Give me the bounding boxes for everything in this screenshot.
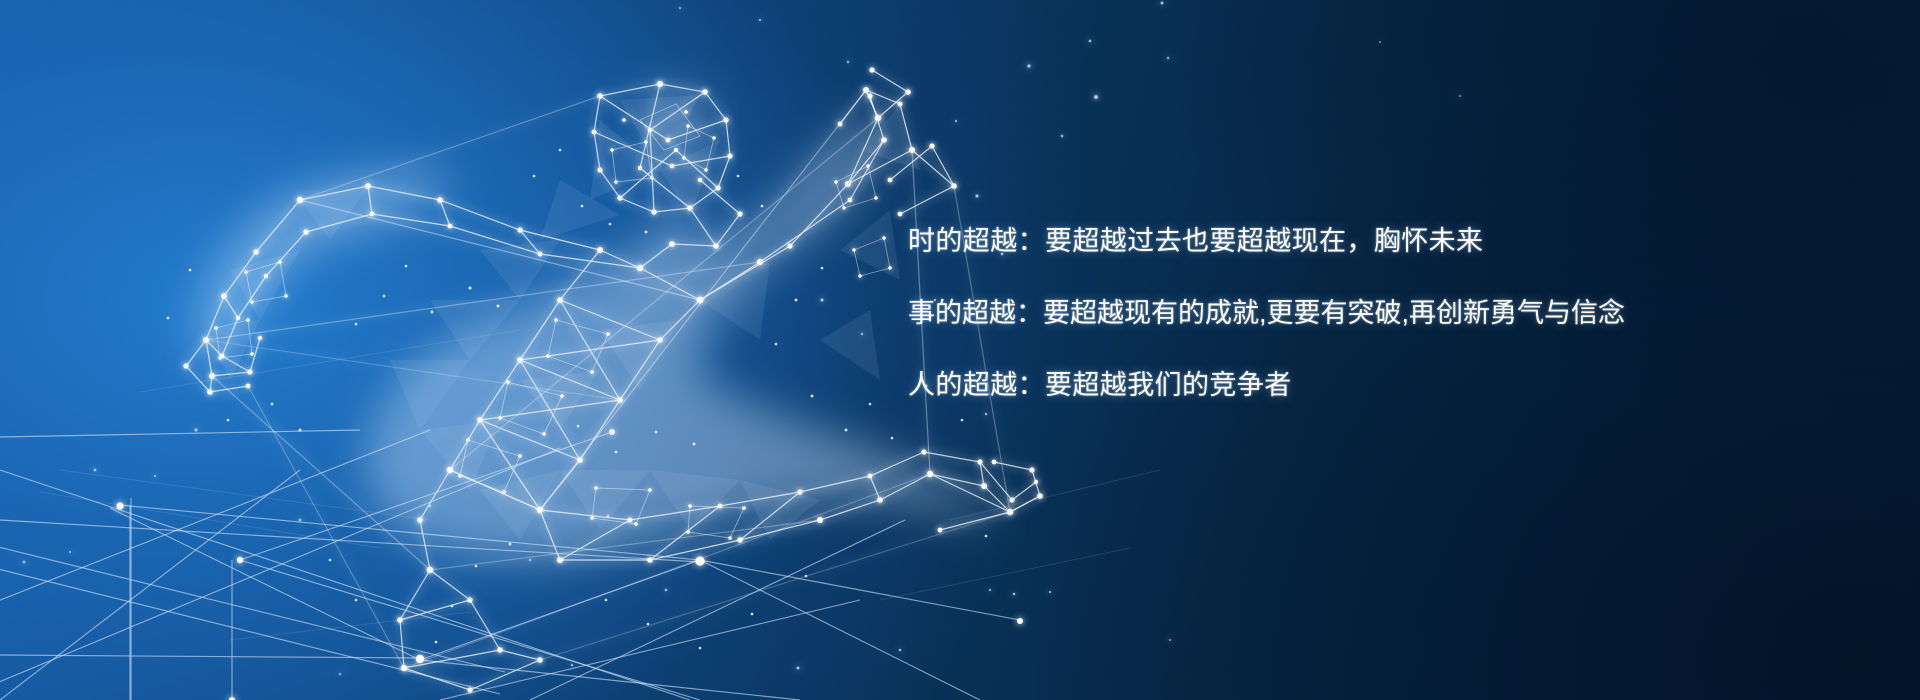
slogan-text-block: 时的超越：要超越过去也要超越现在，胸怀未来 事的超越：要超越现有的成就,更要有突… (908, 228, 1808, 399)
slogan-line-people: 人的超越：要超越我们的竞争者 (908, 372, 1808, 399)
hero-banner: 时的超越：要超越过去也要超越现在，胸怀未来 事的超越：要超越现有的成就,更要有突… (0, 0, 1920, 700)
slogan-line-time: 时的超越：要超越过去也要超越现在，胸怀未来 (908, 228, 1808, 255)
slogan-line-work: 事的超越：要超越现有的成就,更要有突破,再创新勇气与信念 (908, 300, 1808, 327)
